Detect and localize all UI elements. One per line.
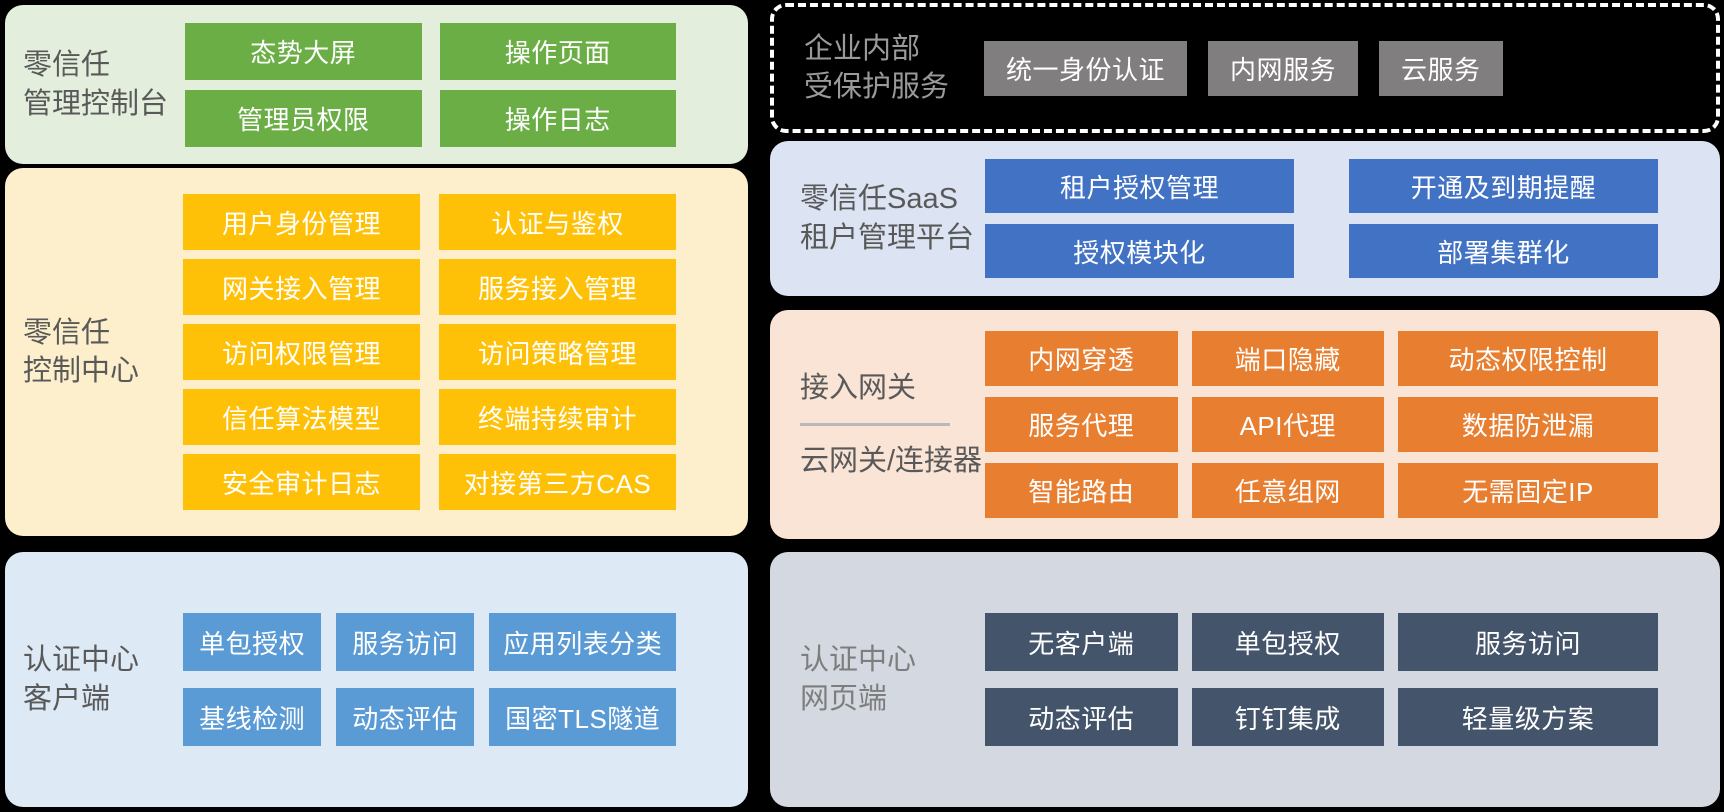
chip-baseline-detection[interactable]: 基线检测 xyxy=(183,688,321,746)
chip-app-list-classification[interactable]: 应用列表分类 xyxy=(489,613,676,671)
chip-service-access-client[interactable]: 服务访问 xyxy=(336,613,474,671)
chip-arbitrary-networking[interactable]: 任意组网 xyxy=(1192,463,1385,518)
panel-label-gateway: 接入网关 云网关/连接器 xyxy=(770,369,985,481)
chip-access-permission-management[interactable]: 访问权限管理 xyxy=(183,324,420,380)
panel-auth-center-client: 认证中心 客户端 单包授权 服务访问 应用列表分类 基线检测 动态评估 国密TL… xyxy=(5,552,748,807)
chip-grid-client: 单包授权 服务访问 应用列表分类 基线检测 动态评估 国密TLS隧道 xyxy=(175,601,748,758)
chip-gateway-access-management[interactable]: 网关接入管理 xyxy=(183,259,420,315)
chip-service-proxy[interactable]: 服务代理 xyxy=(985,397,1178,452)
chip-situation-dashboard[interactable]: 态势大屏 xyxy=(185,23,422,80)
chip-lightweight-solution[interactable]: 轻量级方案 xyxy=(1398,688,1658,746)
chip-single-packet-authorization-client[interactable]: 单包授权 xyxy=(183,613,321,671)
chip-terminal-continuous-audit[interactable]: 终端持续审计 xyxy=(439,389,676,445)
panel-label-saas: 零信任SaaS 租户管理平台 xyxy=(770,180,985,257)
panel-auth-center-web: 认证中心 网页端 无客户端 单包授权 服务访问 动态评估 钉钉集成 轻量级方案 xyxy=(770,552,1720,807)
chip-grid-gateway: 内网穿透 端口隐藏 动态权限控制 服务代理 API代理 数据防泄漏 智能路由 任… xyxy=(985,321,1720,528)
chip-row-enterprise: 统一身份认证 内网服务 云服务 xyxy=(984,41,1503,96)
chip-authorization-modularization[interactable]: 授权模块化 xyxy=(985,224,1294,278)
chip-service-access-management[interactable]: 服务接入管理 xyxy=(439,259,676,315)
chip-deployment-clustering[interactable]: 部署集群化 xyxy=(1349,224,1658,278)
chip-access-policy-management[interactable]: 访问策略管理 xyxy=(439,324,676,380)
chip-dynamic-evaluation-web[interactable]: 动态评估 xyxy=(985,688,1178,746)
chip-grid-saas: 租户授权管理 开通及到期提醒 授权模块化 部署集群化 xyxy=(985,149,1720,288)
panel-label-web: 认证中心 网页端 xyxy=(770,641,985,718)
chip-dingtalk-integration[interactable]: 钉钉集成 xyxy=(1192,688,1385,746)
chip-dynamic-permission-control[interactable]: 动态权限控制 xyxy=(1398,331,1658,386)
chip-grid-console: 态势大屏 操作页面 管理员权限 操作日志 xyxy=(175,11,748,159)
chip-sm-tls-tunnel[interactable]: 国密TLS隧道 xyxy=(489,688,676,746)
divider-line xyxy=(800,423,950,426)
chip-unified-identity-auth[interactable]: 统一身份认证 xyxy=(984,41,1187,96)
chip-service-access-web[interactable]: 服务访问 xyxy=(1398,613,1658,671)
chip-clientless[interactable]: 无客户端 xyxy=(985,613,1178,671)
chip-tenant-authorization-management[interactable]: 租户授权管理 xyxy=(985,159,1294,213)
panel-zero-trust-saas-tenant: 零信任SaaS 租户管理平台 租户授权管理 开通及到期提醒 授权模块化 部署集群… xyxy=(770,141,1720,296)
chip-api-proxy[interactable]: API代理 xyxy=(1192,397,1385,452)
chip-no-fixed-ip[interactable]: 无需固定IP xyxy=(1398,463,1658,518)
panel-enterprise-protected-services: 企业内部 受保护服务 统一身份认证 内网服务 云服务 xyxy=(770,3,1720,133)
panel-label-console: 零信任 管理控制台 xyxy=(5,46,175,123)
panel-label-client: 认证中心 客户端 xyxy=(5,641,175,718)
chip-data-leak-prevention[interactable]: 数据防泄漏 xyxy=(1398,397,1658,452)
chip-user-identity-management[interactable]: 用户身份管理 xyxy=(183,194,420,250)
chip-third-party-cas[interactable]: 对接第三方CAS xyxy=(439,454,676,510)
chip-grid-control-center: 用户身份管理 认证与鉴权 网关接入管理 服务接入管理 访问权限管理 访问策略管理… xyxy=(175,186,748,518)
panel-zero-trust-console: 零信任 管理控制台 态势大屏 操作页面 管理员权限 操作日志 xyxy=(5,5,748,164)
panel-label-gateway-bottom: 云网关/连接器 xyxy=(800,442,985,480)
chip-dynamic-evaluation-client[interactable]: 动态评估 xyxy=(336,688,474,746)
chip-single-packet-authorization-web[interactable]: 单包授权 xyxy=(1192,613,1385,671)
chip-trust-algorithm-model[interactable]: 信任算法模型 xyxy=(183,389,420,445)
chip-security-audit-log[interactable]: 安全审计日志 xyxy=(183,454,420,510)
chip-cloud-service[interactable]: 云服务 xyxy=(1379,41,1503,96)
panel-label-control-center: 零信任 控制中心 xyxy=(5,314,175,391)
panel-access-gateway: 接入网关 云网关/连接器 内网穿透 端口隐藏 动态权限控制 服务代理 API代理… xyxy=(770,310,1720,539)
chip-activation-expiry-reminder[interactable]: 开通及到期提醒 xyxy=(1349,159,1658,213)
panel-label-gateway-top: 接入网关 xyxy=(800,369,985,407)
panel-zero-trust-control-center: 零信任 控制中心 用户身份管理 认证与鉴权 网关接入管理 服务接入管理 访问权限… xyxy=(5,168,748,536)
chip-port-hiding[interactable]: 端口隐藏 xyxy=(1192,331,1385,386)
chip-intranet-penetration[interactable]: 内网穿透 xyxy=(985,331,1178,386)
chip-authentication-authorization[interactable]: 认证与鉴权 xyxy=(439,194,676,250)
chip-operation-page[interactable]: 操作页面 xyxy=(440,23,677,80)
chip-admin-permission[interactable]: 管理员权限 xyxy=(185,90,422,147)
diagram-canvas: 零信任 管理控制台 态势大屏 操作页面 管理员权限 操作日志 企业内部 受保护服… xyxy=(0,0,1724,812)
panel-label-enterprise: 企业内部 受保护服务 xyxy=(774,30,984,107)
chip-smart-routing[interactable]: 智能路由 xyxy=(985,463,1178,518)
chip-intranet-service[interactable]: 内网服务 xyxy=(1208,41,1358,96)
chip-operation-log[interactable]: 操作日志 xyxy=(440,90,677,147)
chip-grid-web: 无客户端 单包授权 服务访问 动态评估 钉钉集成 轻量级方案 xyxy=(985,601,1720,758)
